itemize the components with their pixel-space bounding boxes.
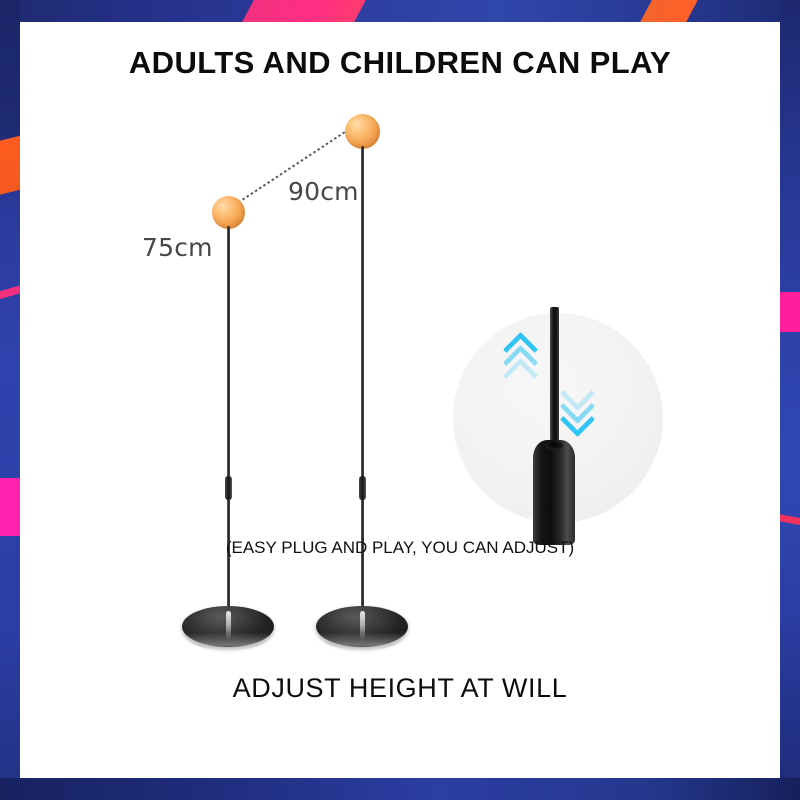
frame-accent-orange-top [638,0,700,22]
frame-accent-pink-right [780,513,800,525]
inset-socket-tube [533,440,575,545]
measurement-label-75cm: 75cm [142,233,213,262]
frame-accent-magenta-left [0,478,20,536]
frame-accent-orange-left [0,134,20,195]
pole-collar-tall-stand [359,476,366,500]
ball-short-stand [212,196,245,229]
base-reflection-tall-stand [360,611,365,640]
product-marketing-image: ADULTS AND CHILDREN CAN PLAY 75cm 90cm [0,0,800,800]
pole-collar-short-stand [225,476,232,500]
frame-accent-pink-left [0,284,20,301]
inset-inner-pole [550,307,559,455]
pole-short-stand [227,226,230,618]
frame-accent-pink-top [239,0,369,22]
base-reflection-short-stand [226,611,231,640]
bottom-caption: ADJUST HEIGHT AT WILL [0,673,800,704]
inset-socket-opening [545,441,563,450]
frame-bottom-border [0,778,800,800]
frame-accent-magenta-right [780,292,800,332]
page-title: ADULTS AND CHILDREN CAN PLAY [0,45,800,81]
measurement-label-90cm: 90cm [288,177,359,206]
frame-top-border [0,0,800,22]
ball-tall-stand [345,114,380,149]
inset-caption: (EASY PLUG AND PLAY, YOU CAN ADJUST) [0,538,800,558]
